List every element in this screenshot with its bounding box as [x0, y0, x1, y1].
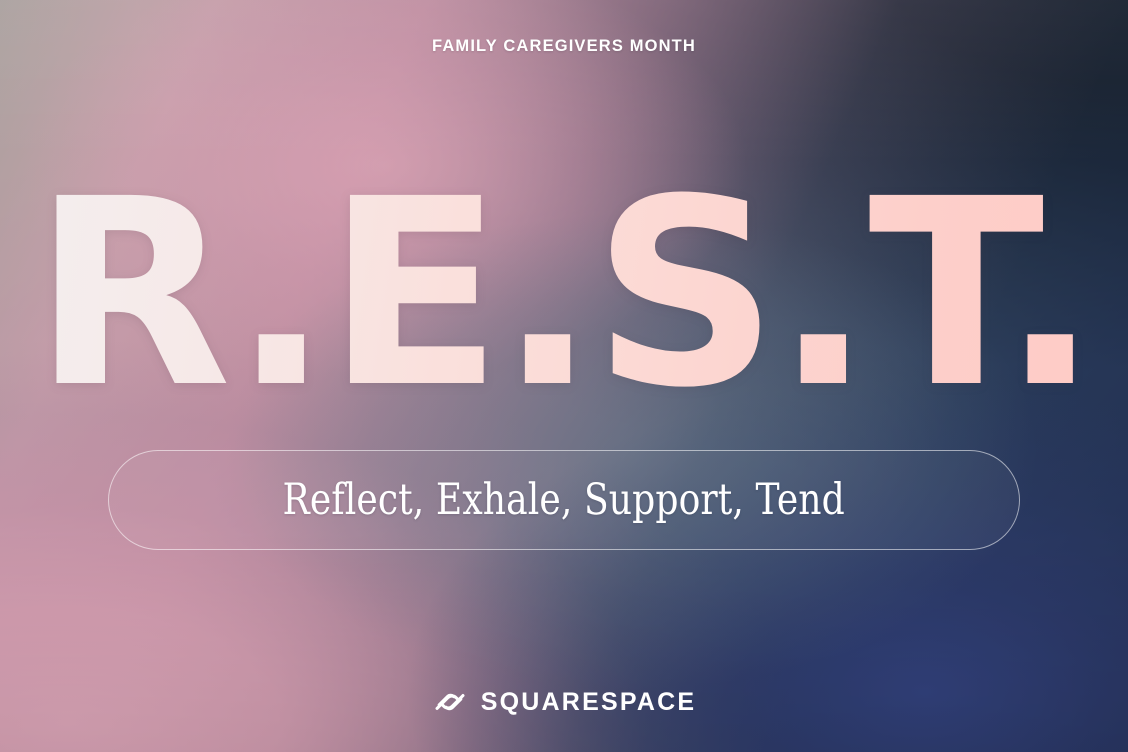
eyebrow-label: FAMILY CAREGIVERS MONTH — [0, 34, 1128, 58]
poster-content: FAMILY CAREGIVERS MONTH R.E.S.T. Reflect… — [0, 0, 1128, 752]
squarespace-logo-icon — [432, 684, 468, 720]
brand-name: SQUARESPACE — [481, 687, 696, 717]
brand-lockup: SQUARESPACE — [0, 684, 1128, 720]
subtitle-pill: Reflect, Exhale, Support, Tend — [108, 450, 1020, 550]
subtitle-text: Reflect, Exhale, Support, Tend — [283, 476, 845, 524]
poster-canvas: FAMILY CAREGIVERS MONTH R.E.S.T. Reflect… — [0, 0, 1128, 752]
headline-container: R.E.S.T. — [0, 186, 1128, 402]
page-title: R.E.S.T. — [33, 186, 1095, 402]
